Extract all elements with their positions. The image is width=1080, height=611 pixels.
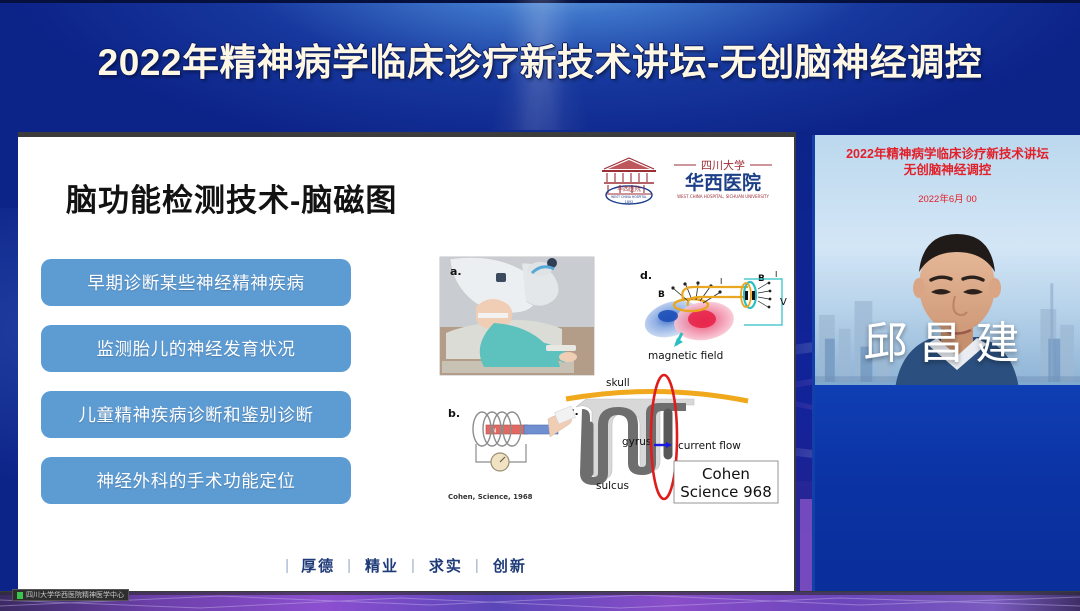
motto-item-2: 精业 <box>365 555 399 576</box>
video-overlay-line1: 2022年精神病学临床诊疗新技术讲坛 <box>815 146 1080 162</box>
motto-item-1: 厚德 <box>301 555 335 576</box>
motto-separator: | <box>285 557 301 574</box>
video-overlay-title: 2022年精神病学临床诊疗新技术讲坛 无创脑神经调控 <box>815 146 1080 178</box>
svg-text:I: I <box>720 277 722 286</box>
svg-text:1892: 1892 <box>625 200 634 204</box>
figure-label-magnetic-field: magnetic field <box>648 350 723 362</box>
figure-label-current-flow: current flow <box>678 440 741 452</box>
figure-label-gyrus: gyrus <box>622 436 651 448</box>
svg-text:a.: a. <box>450 265 462 278</box>
watermark-icon <box>17 592 23 599</box>
motto-item-3: 求实 <box>429 555 463 576</box>
figure-callout-line2: Science 968 <box>680 483 772 501</box>
video-overlay-date: 2022年6月 00 <box>815 191 1080 205</box>
svg-text:I: I <box>775 270 777 279</box>
speaker-name: 邱昌建 <box>815 307 1080 371</box>
list-item[interactable]: 早期诊断某些神经精神疾病 <box>41 259 351 306</box>
figure-citation: Cohen, Science, 1968 <box>448 493 533 501</box>
watermark-badge: 四川大学华西医院精神医学中心 <box>12 589 129 601</box>
motto-item-4: 创新 <box>493 555 527 576</box>
page-title: 2022年精神病学临床诊疗新技术讲坛-无创脑神经调控 <box>98 32 983 86</box>
slide-title: 脑功能检测技术-脑磁图 <box>66 175 397 220</box>
svg-text:WEST CHINA HOSPITAL, SICHUAN U: WEST CHINA HOSPITAL, SICHUAN UNIVERSITY <box>677 194 769 199</box>
bullet-label: 神经外科的手术功能定位 <box>96 468 295 493</box>
svg-text:华西医院: 华西医院 <box>617 185 641 193</box>
bullet-label: 儿童精神疾病诊断和鉴别诊断 <box>78 402 313 427</box>
figure-callout-line1: Cohen <box>702 465 750 483</box>
presentation-slide[interactable]: 脑功能检测技术-脑磁图 华西医院 WEST CHINA HOS <box>18 132 796 594</box>
motto-separator: | <box>335 557 365 574</box>
speaker-name-card: 邱昌建 <box>812 385 1080 591</box>
header-bar: 2022年精神病学临床诊疗新技术讲坛-无创脑神经调控 <box>0 0 1080 118</box>
bottom-decoration-band <box>0 592 1080 611</box>
list-item[interactable]: 监测胎儿的神经发育状况 <box>41 325 351 372</box>
figure-panel-b-coil: b. N <box>448 406 576 501</box>
west-china-hospital-seal-icon: 华西医院 WEST CHINA HOSPITAL 1892 <box>598 151 660 205</box>
video-overlay-line2: 无创脑神经调控 <box>815 162 1080 178</box>
svg-text:d.: d. <box>640 269 652 282</box>
figure-label-B: B <box>658 290 665 300</box>
list-item[interactable]: 神经外科的手术功能定位 <box>41 457 351 504</box>
motto-separator: | <box>399 557 429 574</box>
watermark-text: 四川大学华西医院精神医学中心 <box>26 592 124 599</box>
svg-text:V: V <box>780 297 787 308</box>
svg-text:b.: b. <box>448 407 460 420</box>
motto-separator: | <box>463 557 493 574</box>
sichuan-university-wordmark-icon: 四川大学 华西医院 WEST CHINA HOSPITAL, SICHUAN U… <box>668 154 778 202</box>
figure-label-skull: skull <box>606 377 630 389</box>
list-item[interactable]: 儿童精神疾病诊断和鉴别诊断 <box>41 391 351 438</box>
svg-text:WEST CHINA HOSPITAL: WEST CHINA HOSPITAL <box>611 195 647 199</box>
figure-panel-c-cortex: c. skull gyrus sulcus <box>566 375 778 503</box>
bullet-label: 早期诊断某些神经精神疾病 <box>87 270 304 295</box>
figure-panel-a-photo: a. <box>440 257 594 375</box>
bullet-list: 早期诊断某些神经精神疾病 监测胎儿的神经发育状况 儿童精神疾病诊断和鉴别诊断 神… <box>41 259 351 523</box>
bullet-label: 监测胎儿的神经发育状况 <box>96 336 295 361</box>
svg-text:四川大学: 四川大学 <box>701 158 745 172</box>
meg-figure: a. d. <box>436 249 788 507</box>
figure-label-sulcus: sulcus <box>596 480 629 492</box>
screenshot-root: 2022年精神病学临床诊疗新技术讲坛-无创脑神经调控 脑功能检测技术-脑磁图 <box>0 0 1080 611</box>
figure-panel-d-dipole: d. B <box>640 269 787 362</box>
svg-text:华西医院: 华西医院 <box>685 171 761 194</box>
slide-logos: 华西医院 WEST CHINA HOSPITAL 1892 四川大学 华西医院 … <box>598 151 778 205</box>
slide-motto: | 厚德 | 精业 | 求实 | 创新 <box>18 555 794 576</box>
